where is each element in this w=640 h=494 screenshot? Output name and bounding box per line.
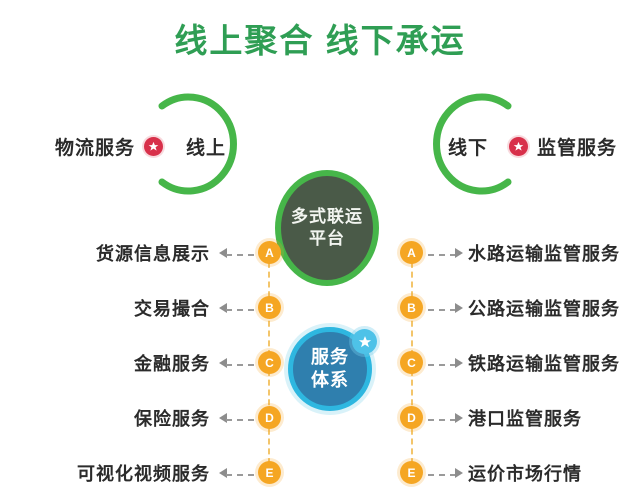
right-service-column: A 水路运输监管服务 B 公路运输监管服务 C 铁路运输监管服务 D (340, 232, 640, 494)
arrow-left-icon (219, 248, 227, 258)
red-star-icon (144, 137, 163, 156)
list-item[interactable]: 金融服务 C (0, 348, 300, 378)
right-inner-label: 线下 (448, 133, 488, 160)
list-item[interactable]: A 水路运输监管服务 (340, 238, 640, 268)
top-band: 多式联运 平台 物流服务 线上 线下 (0, 84, 640, 209)
arrow-left-icon (219, 303, 227, 313)
node-badge-a[interactable]: A (400, 241, 423, 264)
list-item[interactable]: B 公路运输监管服务 (340, 293, 640, 323)
hub-label-line1: 服务 (311, 346, 349, 369)
list-item[interactable]: 保险服务 D (0, 403, 300, 433)
arrow-right-icon (455, 413, 463, 423)
right-item-label: 运价市场行情 (468, 458, 582, 488)
dashed-connector (428, 474, 456, 476)
node-badge-d[interactable]: D (258, 406, 281, 429)
node-badge-d[interactable]: D (400, 406, 423, 429)
right-inner-group: 线下 (448, 84, 488, 209)
list-item[interactable]: E 运价市场行情 (340, 458, 640, 488)
hub-label: 服务 体系 (311, 346, 349, 392)
arrow-left-icon (219, 468, 227, 478)
red-star-icon (509, 137, 528, 156)
dashed-connector (428, 364, 456, 366)
left-item-label: 金融服务 (134, 348, 210, 378)
infographic-canvas: 线上聚合 线下承运 多式联运 平台 物流服务 (0, 0, 640, 494)
list-item[interactable]: 货源信息展示 A (0, 238, 300, 268)
dashed-connector (428, 309, 456, 311)
arrow-right-icon (455, 248, 463, 258)
left-inner-group: 线上 (186, 84, 226, 209)
dashed-connector (226, 419, 254, 421)
dashed-connector (428, 419, 456, 421)
right-item-label: 水路运输监管服务 (468, 238, 620, 268)
list-item[interactable]: C 铁路运输监管服务 (340, 348, 640, 378)
list-item[interactable]: D 港口监管服务 (340, 403, 640, 433)
right-outer-label: 监管服务 (537, 133, 617, 160)
dashed-connector (226, 364, 254, 366)
dashed-connector (428, 254, 456, 256)
left-item-label: 货源信息展示 (96, 238, 210, 268)
arrow-left-icon (219, 358, 227, 368)
node-badge-e[interactable]: E (400, 461, 423, 484)
node-badge-b[interactable]: B (400, 296, 423, 319)
left-item-label: 保险服务 (134, 403, 210, 433)
arrow-right-icon (455, 358, 463, 368)
left-outer-label: 物流服务 (55, 133, 135, 160)
list-item[interactable]: 可视化视频服务 E (0, 458, 300, 488)
node-badge-c[interactable]: C (258, 351, 281, 374)
dashed-connector (226, 309, 254, 311)
dashed-connector (226, 254, 254, 256)
page-title: 线上聚合 线下承运 (0, 14, 640, 62)
right-item-label: 港口监管服务 (468, 403, 582, 433)
right-item-label: 公路运输监管服务 (468, 293, 620, 323)
node-badge-c[interactable]: C (400, 351, 423, 374)
left-item-label: 可视化视频服务 (77, 458, 210, 488)
arrow-right-icon (455, 303, 463, 313)
arrow-right-icon (455, 468, 463, 478)
right-outer-group: 监管服务 (509, 84, 617, 209)
star-badge-icon (352, 329, 377, 354)
right-item-label: 铁路运输监管服务 (468, 348, 620, 378)
list-item[interactable]: 交易撮合 B (0, 293, 300, 323)
left-service-column: 货源信息展示 A 交易撮合 B 金融服务 C 保险服务 (0, 232, 300, 494)
node-badge-e[interactable]: E (258, 461, 281, 484)
center-node-label-line1: 多式联运 (291, 206, 363, 228)
left-inner-label: 线上 (186, 133, 226, 160)
arrow-left-icon (219, 413, 227, 423)
node-badge-a[interactable]: A (258, 241, 281, 264)
left-item-label: 交易撮合 (134, 293, 210, 323)
left-outer-group: 物流服务 (55, 84, 172, 209)
hub-label-line2: 体系 (311, 369, 349, 392)
node-badge-b[interactable]: B (258, 296, 281, 319)
dashed-connector (226, 474, 254, 476)
